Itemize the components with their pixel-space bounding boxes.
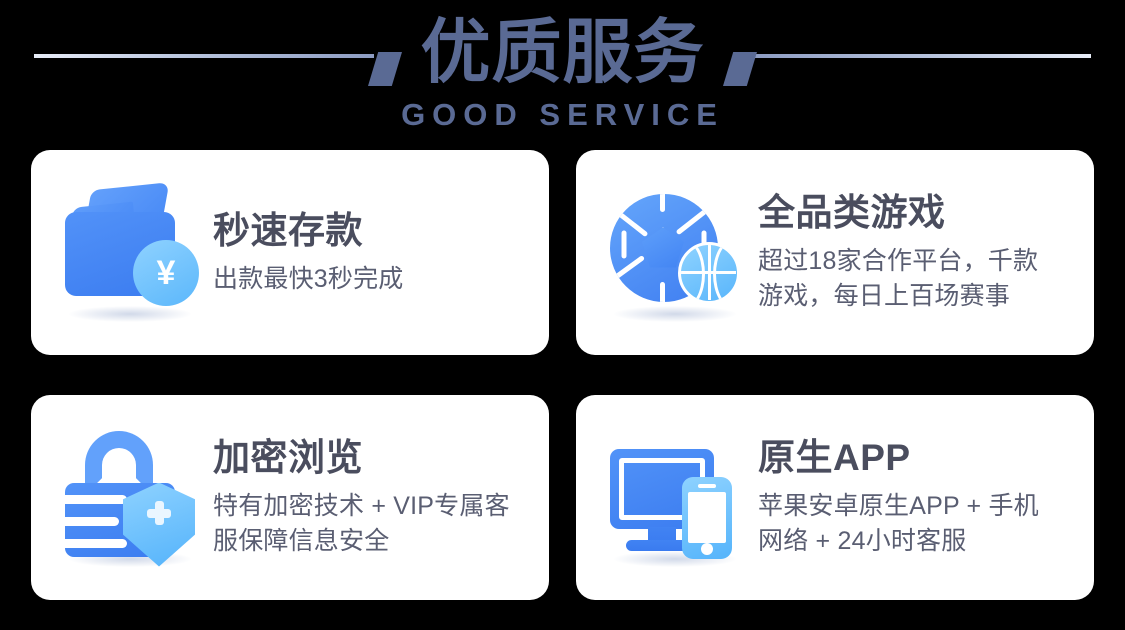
icon-shadow bbox=[614, 306, 736, 322]
feature-card-encrypted-browsing[interactable]: 加密浏览 特有加密技术 + VIP专属客 服保障信息安全 bbox=[31, 395, 549, 600]
yen-coin-icon: ¥ bbox=[133, 240, 199, 306]
card-description-line: 游戏，每日上百场赛事 bbox=[758, 279, 1038, 314]
card-description-line: 超过18家合作平台，千款 bbox=[758, 244, 1038, 279]
card-title: 加密浏览 bbox=[213, 436, 510, 480]
card-description-line: 网络 + 24小时客服 bbox=[758, 524, 1039, 559]
lock-shield-icon bbox=[59, 423, 209, 573]
card-title: 原生APP bbox=[758, 436, 1039, 480]
card-description-line: 特有加密技术 + VIP专属客 bbox=[213, 489, 510, 524]
soccer-ball-icon bbox=[604, 178, 754, 328]
smartphone-icon bbox=[682, 477, 732, 559]
card-text: 加密浏览 特有加密技术 + VIP专属客 服保障信息安全 bbox=[209, 436, 522, 559]
icon-shadow bbox=[69, 306, 191, 322]
card-text: 秒速存款 出款最快3秒完成 bbox=[209, 209, 416, 297]
card-description: 特有加密技术 + VIP专属客 服保障信息安全 bbox=[213, 489, 510, 559]
card-title: 全品类游戏 bbox=[758, 191, 1038, 235]
feature-card-grid: ¥ 秒速存款 出款最快3秒完成 bbox=[31, 150, 1094, 600]
banner-header: 优质服务 GOOD SERVICE bbox=[0, 0, 1125, 148]
page-title: 优质服务 bbox=[0, 8, 1125, 96]
card-description: 超过18家合作平台，千款 游戏，每日上百场赛事 bbox=[758, 244, 1038, 314]
basketball-icon bbox=[678, 242, 740, 304]
card-description: 出款最快3秒完成 bbox=[213, 262, 404, 297]
card-title: 秒速存款 bbox=[213, 209, 404, 253]
feature-card-instant-deposit[interactable]: ¥ 秒速存款 出款最快3秒完成 bbox=[31, 150, 549, 355]
promo-banner: 优质服务 GOOD SERVICE ¥ 秒速存款 出款最快3秒完成 bbox=[0, 0, 1125, 630]
wallet-icon: ¥ bbox=[59, 178, 209, 328]
card-description: 苹果安卓原生APP + 手机 网络 + 24小时客服 bbox=[758, 489, 1039, 559]
monitor-phone-icon bbox=[604, 423, 754, 573]
feature-card-all-games[interactable]: 全品类游戏 超过18家合作平台，千款 游戏，每日上百场赛事 bbox=[576, 150, 1094, 355]
card-text: 原生APP 苹果安卓原生APP + 手机 网络 + 24小时客服 bbox=[754, 436, 1051, 559]
page-subtitle: GOOD SERVICE bbox=[0, 96, 1125, 134]
card-description-line: 苹果安卓原生APP + 手机 bbox=[758, 489, 1039, 524]
card-description-line: 服保障信息安全 bbox=[213, 524, 510, 559]
feature-card-native-app[interactable]: 原生APP 苹果安卓原生APP + 手机 网络 + 24小时客服 bbox=[576, 395, 1094, 600]
card-description-line: 出款最快3秒完成 bbox=[213, 262, 404, 297]
card-text: 全品类游戏 超过18家合作平台，千款 游戏，每日上百场赛事 bbox=[754, 191, 1050, 314]
